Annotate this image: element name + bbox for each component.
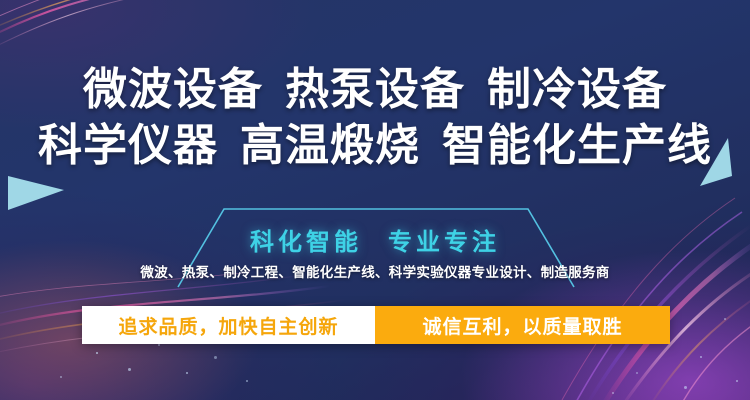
slogan-bar-quality: 追求品质，加快自主创新: [82, 306, 375, 344]
headline-term-5: 高温煅烧: [240, 120, 420, 171]
slogan-bar-integrity: 诚信互利，以质量取胜: [375, 306, 670, 344]
headline-term-6: 智能化生产线: [442, 120, 712, 171]
headline-term-2: 热泵设备: [285, 64, 465, 115]
triangle-right-icon-left: [6, 168, 68, 212]
page-title: 微波设备热泵设备制冷设备 科学仪器高温煅烧智能化生产线: [0, 62, 750, 174]
subtitle-slogan: 科化智能专业专注: [0, 227, 750, 257]
headline-line-2: 科学仪器高温煅烧智能化生产线: [0, 118, 750, 174]
headline-term-1: 微波设备: [83, 64, 263, 115]
business-description: 微波、热泵、制冷工程、智能化生产线、科学实验仪器专业设计、制造服务商: [0, 263, 750, 283]
headline-term-3: 制冷设备: [487, 64, 667, 115]
promotional-banner: 微波设备热泵设备制冷设备 科学仪器高温煅烧智能化生产线 科化智能专业专注 微波、…: [0, 0, 750, 400]
headline-term-4: 科学仪器: [38, 120, 218, 171]
subtitle-left: 科化智能: [250, 228, 362, 256]
subtitle-right: 专业专注: [388, 228, 500, 256]
headline-line-1: 微波设备热泵设备制冷设备: [0, 62, 750, 118]
slogan-bar-group: 追求品质，加快自主创新 诚信互利，以质量取胜: [82, 306, 670, 344]
